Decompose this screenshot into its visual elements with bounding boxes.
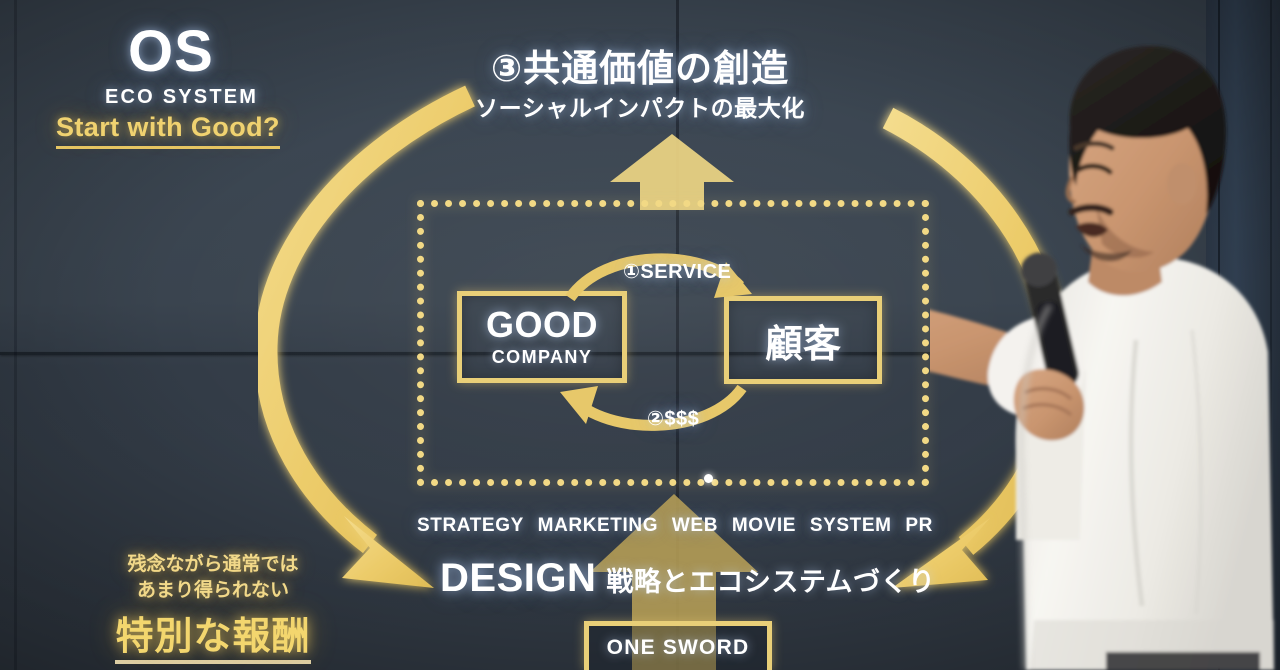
design-row: DESIGN 戦略とエコシステムづくり xyxy=(440,556,936,601)
service-item: PR xyxy=(905,515,933,537)
design-japanese: 戦略とエコシステムづくり xyxy=(606,560,935,599)
reward-line2: あまり得られない xyxy=(78,578,348,604)
page-title: ③共通価値の創造 xyxy=(491,38,789,92)
cursor-dot-icon xyxy=(704,474,713,483)
presenter-with-microphone xyxy=(930,0,1280,670)
one-sword-box[interactable]: ONE SWORD xyxy=(584,621,772,670)
service-item: MARKETING xyxy=(538,515,658,537)
reward-line3: 特別な報酬 xyxy=(115,605,310,664)
design-english: DESIGN xyxy=(440,556,596,601)
os-subtitle: ECO SYSTEM xyxy=(105,86,258,109)
page-subtitle: ソーシャルインパクトの最大化 xyxy=(475,89,805,123)
os-tagline: Start with Good? xyxy=(56,112,280,149)
reward-block: 残念ながら通常では あまり得られない 特別な報酬 xyxy=(78,552,348,664)
money-arrow-label: ②$$$ xyxy=(647,406,699,431)
os-title: OS xyxy=(128,18,214,85)
slide-stage: OS ECO SYSTEM Start with Good? ③共通価値の創造 … xyxy=(0,0,1280,670)
service-item: WEB xyxy=(672,515,718,537)
service-item: SYSTEM xyxy=(810,515,892,537)
services-row: STRATEGY MARKETING WEB MOVIE SYSTEM PR xyxy=(417,515,933,537)
service-item: MOVIE xyxy=(732,515,796,537)
reward-line1: 残念ながら通常では xyxy=(78,552,348,578)
service-item: STRATEGY xyxy=(417,515,524,537)
customer-label: 顧客 xyxy=(765,313,841,368)
one-sword-label: ONE SWORD xyxy=(607,636,750,660)
arrow-up-icon xyxy=(608,132,736,210)
service-arrow-label: ①SERVICE xyxy=(623,259,731,284)
